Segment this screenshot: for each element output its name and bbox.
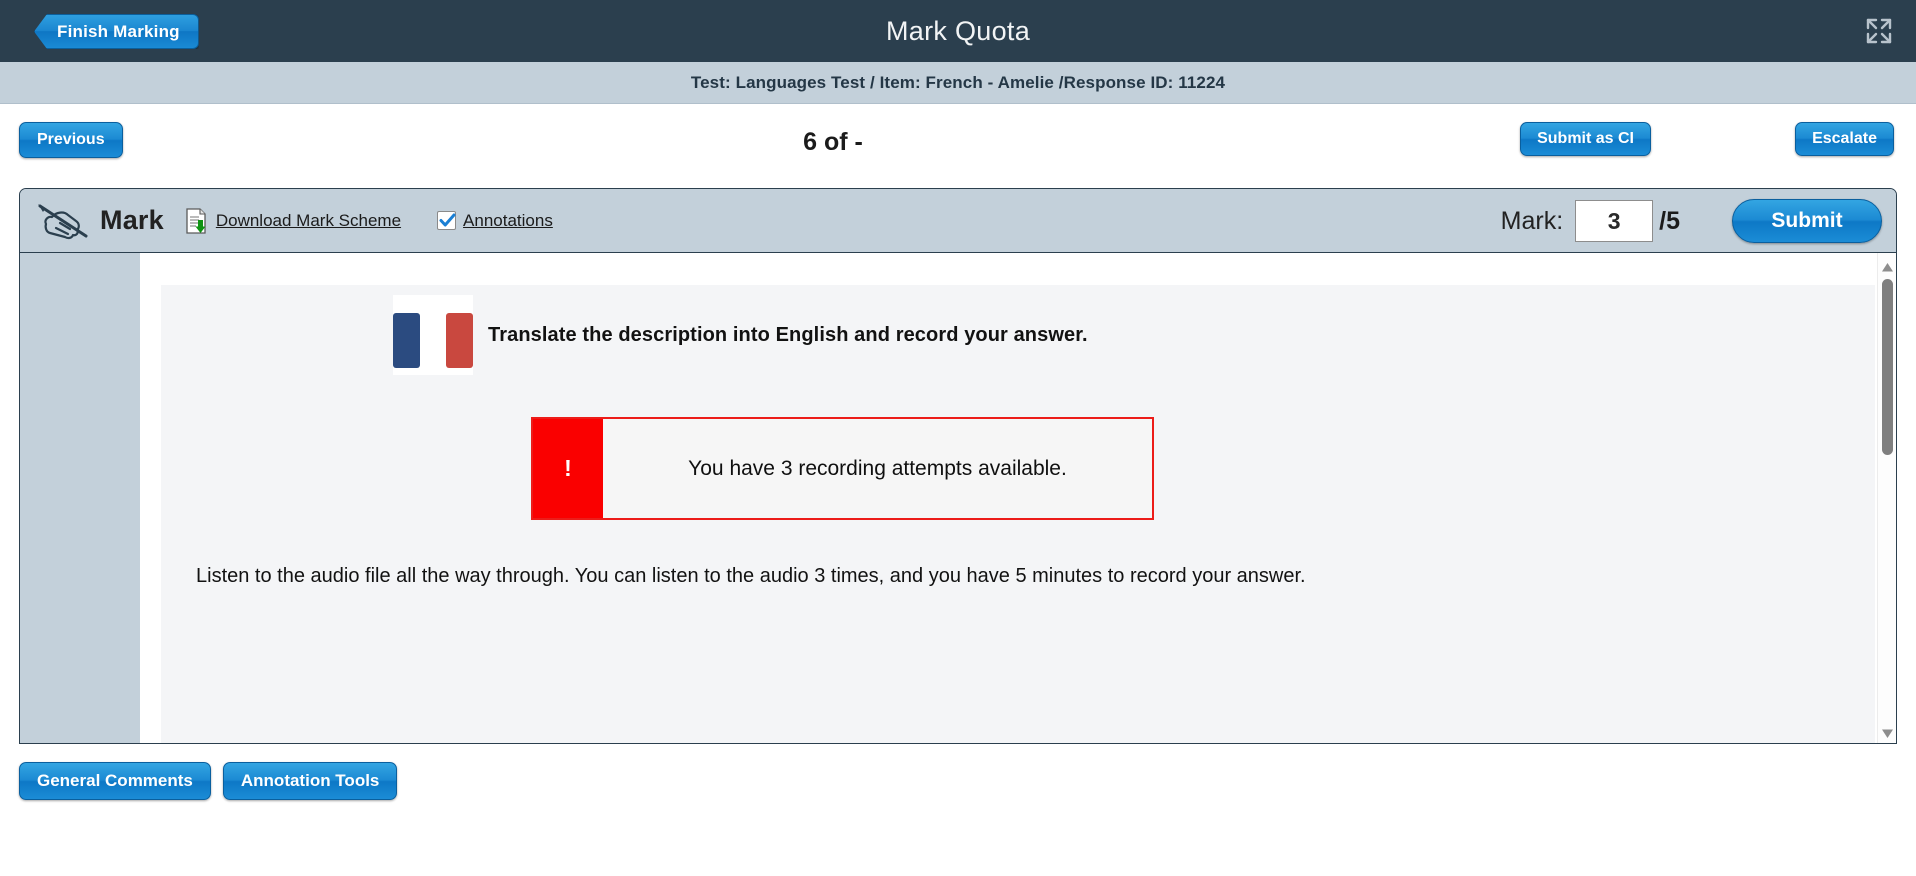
content-vertical-scrollbar[interactable] [1877, 253, 1896, 744]
recording-attempts-warning: ! You have 3 recording attempts availabl… [531, 417, 1154, 520]
content-scroll-area: Translate the description into English a… [140, 253, 1896, 744]
warning-exclamation-icon: ! [533, 419, 603, 518]
breadcrumb: Test: Languages Test / Item: French - Am… [0, 62, 1916, 104]
breadcrumb-text: Test: Languages Test / Item: French - Am… [691, 73, 1225, 93]
submit-label: Submit [1771, 209, 1842, 233]
page-title: Mark Quota [0, 16, 1916, 47]
app-header: Finish Marking Mark Quota [0, 0, 1916, 62]
warning-message: You have 3 recording attempts available. [603, 419, 1152, 518]
mark-total: /5 [1659, 207, 1680, 236]
annotations-label[interactable]: Annotations [463, 211, 553, 231]
mark-label: Mark: [1501, 207, 1564, 236]
triangle-up-icon[interactable] [1881, 260, 1894, 271]
scrollbar-thumb[interactable] [1882, 279, 1893, 455]
annotations-checkbox[interactable] [437, 211, 456, 230]
expand-arrows-icon[interactable] [1864, 16, 1894, 46]
general-comments-label: General Comments [37, 771, 193, 791]
annotation-tools-label: Annotation Tools [241, 771, 380, 791]
escalate-label: Escalate [1812, 130, 1877, 148]
document-download-icon [186, 208, 208, 234]
question-prompt-row: Translate the description into English a… [161, 295, 1875, 375]
question-instructions: Listen to the audio file all the way thr… [196, 565, 1875, 588]
mark-toolbar: Mark Download Mark Scheme Ann [20, 189, 1896, 253]
annotation-tools-button[interactable]: Annotation Tools [223, 762, 398, 800]
submit-as-ci-button[interactable]: Submit as CI [1520, 122, 1651, 156]
question-card: Translate the description into English a… [161, 285, 1875, 744]
finish-marking-button[interactable]: Finish Marking [34, 14, 199, 49]
content-left-strip [20, 253, 140, 744]
submit-as-ci-label: Submit as CI [1537, 130, 1634, 148]
mark-heading: Mark [100, 205, 164, 236]
general-comments-button[interactable]: General Comments [19, 762, 211, 800]
question-prompt: Translate the description into English a… [488, 324, 1088, 347]
escalate-button[interactable]: Escalate [1795, 122, 1894, 156]
mark-score-group: Mark: /5 Submit [1501, 189, 1882, 253]
triangle-down-icon[interactable] [1881, 726, 1894, 737]
flag-red-bar [446, 313, 473, 368]
navigation-row: Previous 6 of - Submit as CI Escalate [0, 104, 1916, 188]
mark-input[interactable] [1575, 200, 1653, 242]
footer-toolbar: General Comments Annotation Tools [0, 744, 1916, 818]
download-mark-scheme-link[interactable]: Download Mark Scheme [216, 211, 401, 231]
flag-blue-bar [393, 313, 420, 368]
submit-button[interactable]: Submit [1732, 199, 1882, 243]
finish-marking-label: Finish Marking [57, 22, 180, 42]
mark-panel: Mark Download Mark Scheme Ann [19, 188, 1897, 744]
annotations-toggle-group[interactable]: Annotations [437, 211, 553, 231]
response-content-view: Translate the description into English a… [20, 253, 1896, 744]
hand-with-pen-icon [36, 200, 92, 242]
french-flag-icon [393, 295, 473, 375]
